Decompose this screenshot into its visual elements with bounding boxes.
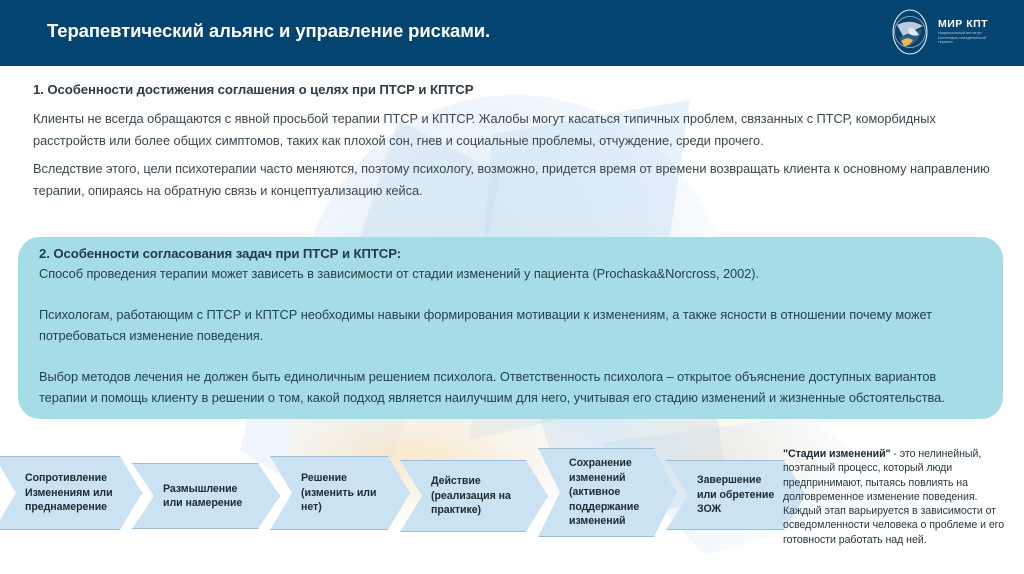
section-2-paragraph-3: Выбор методов лечения не должен быть еди… xyxy=(39,366,983,409)
logo-name: МИР КПТ xyxy=(938,19,996,30)
logo-subtitle: Национальный институт когнитивно-поведен… xyxy=(938,31,996,46)
flow-stage-1-label: Сопротивление Изменениям или преднамерен… xyxy=(0,471,141,515)
panel-spacer-1 xyxy=(39,285,983,304)
note-body: - это нелинейный, поэтапный процесс, кот… xyxy=(783,448,1004,546)
section-2-paragraph-1: Способ проведения терапии может зависеть… xyxy=(39,263,983,285)
section-2-panel: 2. Особенности согласования задач при ПТ… xyxy=(18,237,1003,419)
brand-logo: МИР КПТ Национальный институт когнитивно… xyxy=(889,9,996,55)
flow-stage-3: Решение (изменить или нет) xyxy=(270,456,410,530)
flow-stage-5: Сохранение изменений (активное поддержан… xyxy=(538,448,676,537)
stages-of-change-flow: Сопротивление Изменениям или преднамерен… xyxy=(8,448,778,570)
note-lead: "Стадии изменений" xyxy=(783,448,891,460)
flow-stage-1: Сопротивление Изменениям или преднамерен… xyxy=(0,456,142,530)
flow-stage-4-label: Действие (реализация на практике) xyxy=(401,474,547,518)
stages-of-change-note: "Стадии изменений" - это нелинейный, поэ… xyxy=(783,447,1015,547)
section-2-title: 2. Особенности согласования задач при ПТ… xyxy=(39,246,983,261)
flow-stage-4: Действие (реализация на практике) xyxy=(400,460,548,532)
section-1-title: 1. Особенности достижения соглашения о ц… xyxy=(33,82,993,97)
slide-header-bar: Терапевтический альянс и управление риск… xyxy=(0,0,1024,66)
panel-spacer-2 xyxy=(39,347,983,366)
section-1-paragraph-2: Вследствие этого, цели психотерапии част… xyxy=(33,158,993,202)
globe-logo-icon xyxy=(889,9,931,55)
flow-stage-3-label: Решение (изменить или нет) xyxy=(271,471,409,515)
flow-stage-2: Размышление или намерение xyxy=(132,463,280,529)
flow-stage-5-label: Сохранение изменений (активное поддержан… xyxy=(539,456,675,529)
section-1: 1. Особенности достижения соглашения о ц… xyxy=(33,82,993,202)
page-title: Терапевтический альянс и управление риск… xyxy=(47,20,490,42)
flow-stage-2-label: Размышление или намерение xyxy=(133,482,279,511)
section-2-paragraph-2: Психологам, работающим с ПТСР и КПТСР не… xyxy=(39,304,983,347)
section-1-paragraph-1: Клиенты не всегда обращаются с явной про… xyxy=(33,108,993,152)
